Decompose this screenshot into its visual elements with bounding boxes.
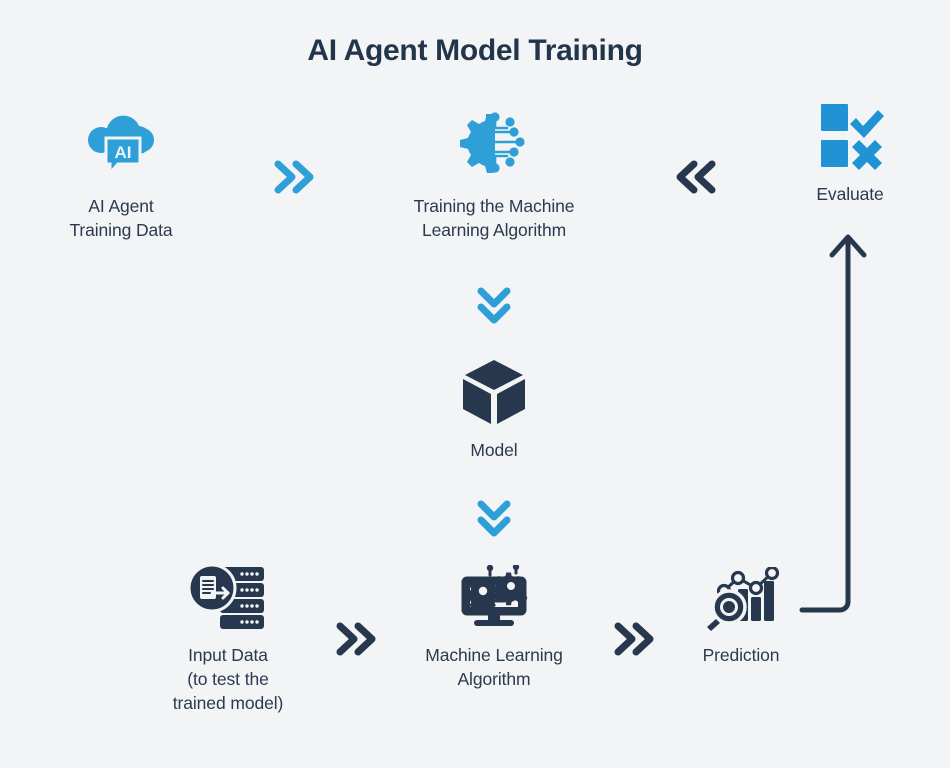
double-chevron-down-icon: [469, 281, 519, 336]
node-training-the-machine-learning-algorithm: Training the Machine Learning Algorithm: [394, 104, 594, 242]
checkmark-cross-squares-icon: [750, 100, 950, 170]
gear-circuit-icon: [394, 104, 594, 182]
node-label: Prediction: [641, 643, 841, 667]
cube-box-icon: [394, 356, 594, 426]
page-title: AI Agent Model Training: [0, 34, 950, 68]
node-ai-agent-training-data: AI AI Agent Training Data: [21, 104, 221, 242]
svg-text:AI: AI: [115, 143, 132, 162]
node-label: Machine Learning Algorithm: [394, 643, 594, 691]
diagram-canvas: AI Agent Model Training AI AI Agent Trai…: [0, 0, 950, 768]
node-machine-learning-algorithm: Machine Learning Algorithm: [394, 565, 594, 691]
monitor-gears-icon: [394, 565, 594, 631]
node-label: Evaluate: [750, 182, 950, 206]
node-label: Input Data (to test the trained model): [128, 643, 328, 715]
node-model: Model: [394, 356, 594, 462]
double-chevron-right-icon: [268, 152, 320, 207]
node-evaluate: Evaluate: [750, 100, 950, 206]
node-label: Model: [394, 438, 594, 462]
double-chevron-down-icon: [469, 494, 519, 549]
node-label: AI Agent Training Data: [21, 194, 221, 242]
double-chevron-right-icon: [608, 614, 660, 669]
double-chevron-left-icon: [670, 152, 722, 207]
node-label: Training the Machine Learning Algorithm: [394, 194, 594, 242]
node-input-data: Input Data (to test the trained model): [128, 565, 328, 715]
double-chevron-right-icon: [330, 614, 382, 669]
database-import-icon: [128, 565, 328, 631]
cloud-ai-chat-icon: AI: [21, 104, 221, 182]
feedback-arrow-up-icon: [780, 225, 890, 630]
